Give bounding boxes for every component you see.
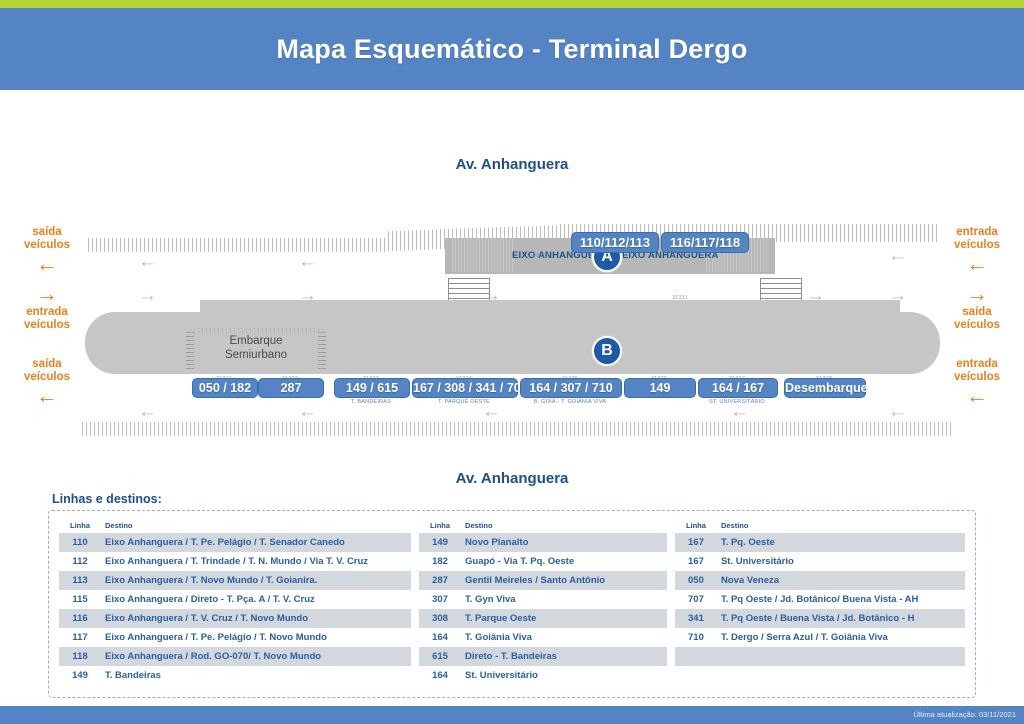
table-row[interactable]: 115Eixo Anhanguera / Direto - T. Pça. A … xyxy=(59,590,411,609)
flow-arrow-left-2: ← xyxy=(298,252,317,271)
platform-badge-6[interactable]: 164 / 167 xyxy=(698,378,778,398)
legend-header-row: Linha Destino xyxy=(419,519,667,533)
arrow-left-out-1-icon: ← xyxy=(4,252,90,276)
side-legend-right-entrada-1: entrada veículos ← xyxy=(934,226,1020,277)
line-number: 110 xyxy=(59,533,101,552)
platform-badge-3[interactable]: 167 / 308 / 341 / 707 xyxy=(412,378,518,398)
line-destination: T. Gyn Viva xyxy=(461,590,667,609)
table-row[interactable]: 117Eixo Anhanguera / T. Pe. Pelágio / T.… xyxy=(59,628,411,647)
line-destination: Novo Planalto xyxy=(461,533,667,552)
line-destination: Nova Veneza xyxy=(717,571,965,590)
line-number: 182 xyxy=(419,552,461,571)
arrow-right-in-2-icon: ← xyxy=(934,384,1020,408)
line-number: 118 xyxy=(59,647,101,666)
page-header: Mapa Esquemático - Terminal Dergo xyxy=(0,8,1024,90)
heading-av-anhanguera-top: Av. Anhanguera xyxy=(0,156,1024,173)
heading-av-anhanguera-bottom: Av. Anhanguera xyxy=(0,470,1024,487)
side-right-entrada-1-line1: entrada xyxy=(956,226,998,238)
side-legend-left-saida-1: saída veículos ← xyxy=(4,226,90,277)
line-destination: St. Universitário xyxy=(717,552,965,571)
line-number xyxy=(675,666,717,685)
line-number: 341 xyxy=(675,609,717,628)
page-title: Mapa Esquemático - Terminal Dergo xyxy=(276,34,747,65)
legend-column-3: Linha Destino 167T. Pq. Oeste 167St. Uni… xyxy=(675,519,965,689)
line-number: 167 xyxy=(675,552,717,571)
line-number: 112 xyxy=(59,552,101,571)
line-destination: Eixo Anhanguera / T. Novo Mundo / T. Goi… xyxy=(101,571,411,590)
arrow-right-out-1-icon: → xyxy=(934,282,1020,306)
legend-body-3: 167T. Pq. Oeste 167St. Universitário 050… xyxy=(675,533,965,685)
legend-column-2: Linha Destino 149Novo Planalto 182Guapó … xyxy=(419,519,667,689)
legend-col-destino: Destino xyxy=(461,519,667,533)
table-row[interactable]: 112Eixo Anhanguera / T. Trindade / T. N.… xyxy=(59,552,411,571)
table-row[interactable]: 116Eixo Anhanguera / T. V. Cruz / T. Nov… xyxy=(59,609,411,628)
line-destination: Gentil Meireles / Santo Antônio xyxy=(461,571,667,590)
legend-table-2: Linha Destino 149Novo Planalto 182Guapó … xyxy=(419,519,667,685)
side-left-entrada-1-line1: entrada xyxy=(26,306,68,318)
table-row xyxy=(675,666,965,685)
line-number xyxy=(675,647,717,666)
flow-arrow-left-5: ← xyxy=(888,246,907,265)
flow-arrow-lower-3: ← xyxy=(482,402,501,421)
line-number: 117 xyxy=(59,628,101,647)
table-row[interactable]: 149T. Bandeiras xyxy=(59,666,411,685)
line-destination: Eixo Anhanguera / T. Pe. Pelágio / T. Se… xyxy=(101,533,411,552)
embarque-line-2: Semiurbano xyxy=(186,348,326,362)
road-hatch-bottom xyxy=(82,422,954,436)
platform-badge-0[interactable]: 050 / 182 xyxy=(192,378,258,398)
flow-arrow-lower-5: ← xyxy=(888,402,907,421)
eixo-badge-top-1[interactable]: 110/112/113 xyxy=(571,232,659,253)
line-destination: T. Parque Oeste xyxy=(461,609,667,628)
legend-header-row: Linha Destino xyxy=(675,519,965,533)
line-number: 050 xyxy=(675,571,717,590)
side-right-entrada-1-line2: veículos xyxy=(954,239,1000,251)
line-destination: Eixo Anhanguera / T. V. Cruz / T. Novo M… xyxy=(101,609,411,628)
flow-arrow-right-1: → xyxy=(138,286,157,305)
platform-badge-1[interactable]: 287 xyxy=(258,378,324,398)
table-row[interactable]: 341T. Pq Oeste / Buena Vista / Jd. Botân… xyxy=(675,609,965,628)
line-number: 149 xyxy=(419,533,461,552)
line-number: 164 xyxy=(419,666,461,685)
line-destination: Direto - T. Bandeiras xyxy=(461,647,667,666)
line-destination: St. Universitário xyxy=(461,666,667,685)
station-marker-b[interactable]: B xyxy=(592,336,622,366)
flow-arrow-lower-1: ← xyxy=(138,402,157,421)
line-number: 164 xyxy=(419,628,461,647)
line-destination: T. Pq Oeste / Jd. Botânico/ Buena Vista … xyxy=(717,590,965,609)
flow-arrow-lower-4: ← xyxy=(730,402,749,421)
line-number: 116 xyxy=(59,609,101,628)
line-number: 167 xyxy=(675,533,717,552)
side-right-entrada-2-line1: entrada xyxy=(956,358,998,370)
line-number: 113 xyxy=(59,571,101,590)
island-hatch-left xyxy=(452,238,514,272)
side-legend-left-entrada-1: → entrada veículos xyxy=(4,282,90,333)
stop-code-31312: 31312 xyxy=(521,253,561,259)
line-number: 287 xyxy=(419,571,461,590)
table-row[interactable]: 710T. Dergo / Serra Azul / T. Goiânia Vi… xyxy=(675,628,965,647)
legend-col-linha: Linha xyxy=(419,519,461,533)
side-left-entrada-1-line2: veículos xyxy=(24,319,70,331)
table-row[interactable]: 113Eixo Anhanguera / T. Novo Mundo / T. … xyxy=(59,571,411,590)
line-destination: T. Goiânia Viva xyxy=(461,628,667,647)
legend-title: Linhas e destinos: xyxy=(52,492,162,506)
legend-body-1: 110Eixo Anhanguera / T. Pe. Pelágio / T.… xyxy=(59,533,411,685)
road-hatch-top-left xyxy=(88,238,388,252)
platform-badge-4[interactable]: 164 / 307 / 710 xyxy=(520,378,622,398)
table-row[interactable]: 182Guapó - Via T. Pq. Oeste xyxy=(419,552,667,571)
schematic-map: ← ← ← ← ← → → → → → EIXO ANHANGUERA EIXO… xyxy=(0,190,1024,455)
table-row[interactable]: 164T. Goiânia Viva xyxy=(419,628,667,647)
side-legend-left-saida-2: saída veículos ← xyxy=(4,358,90,409)
arrow-left-in-1-icon: → xyxy=(4,282,90,306)
page-footer: Última atualização: 03/11/2021 xyxy=(0,706,1024,724)
arrow-left-out-2-icon: ← xyxy=(4,384,90,408)
side-legend-right-entrada-2: entrada veículos ← xyxy=(934,358,1020,409)
legend-col-linha: Linha xyxy=(675,519,717,533)
side-right-saida-1-line1: saída xyxy=(962,306,991,318)
line-number: 115 xyxy=(59,590,101,609)
line-destination: Eixo Anhanguera / Rod. GO-070/ T. Novo M… xyxy=(101,647,411,666)
line-destination: Eixo Anhanguera / T. Trindade / T. N. Mu… xyxy=(101,552,411,571)
table-row[interactable]: 167T. Pq. Oeste xyxy=(675,533,965,552)
legend-col-destino: Destino xyxy=(101,519,411,533)
side-right-saida-1-line2: veículos xyxy=(954,319,1000,331)
arrow-right-in-1-icon: ← xyxy=(934,252,1020,276)
legend-header-row: Linha Destino xyxy=(59,519,411,533)
platform-badge-7[interactable]: Desembarque xyxy=(784,378,866,398)
line-destination: Eixo Anhanguera / Direto - T. Pça. A / T… xyxy=(101,590,411,609)
table-row[interactable]: 308T. Parque Oeste xyxy=(419,609,667,628)
line-number: 308 xyxy=(419,609,461,628)
eixo-badge-top-2[interactable]: 116/117/118 xyxy=(661,232,749,253)
line-destination xyxy=(717,666,965,685)
table-row[interactable]: 050Nova Veneza xyxy=(675,571,965,590)
table-row[interactable]: 149Novo Planalto xyxy=(419,533,667,552)
side-legend-right-saida-1: → saída veículos xyxy=(934,282,1020,333)
line-destination: T. Pq. Oeste xyxy=(717,533,965,552)
legend-table-3: Linha Destino 167T. Pq. Oeste 167St. Uni… xyxy=(675,519,965,685)
side-left-saida-1-line1: saída xyxy=(32,226,61,238)
legend-column-1: Linha Destino 110Eixo Anhanguera / T. Pe… xyxy=(59,519,411,689)
line-destination: Eixo Anhanguera / T. Pe. Pelágio / T. No… xyxy=(101,628,411,647)
line-number: 707 xyxy=(675,590,717,609)
table-row[interactable]: 118Eixo Anhanguera / Rod. GO-070/ T. Nov… xyxy=(59,647,411,666)
line-destination xyxy=(717,647,965,666)
last-update-text: Última atualização: 03/11/2021 xyxy=(914,710,1016,719)
platform-badge-5[interactable]: 149 xyxy=(624,378,696,398)
table-row[interactable]: 167St. Universitário xyxy=(675,552,965,571)
legend-col-linha: Linha xyxy=(59,519,101,533)
flow-arrow-lower-2: ← xyxy=(298,402,317,421)
line-destination: Guapó - Via T. Pq. Oeste xyxy=(461,552,667,571)
line-destination: T. Dergo / Serra Azul / T. Goiânia Viva xyxy=(717,628,965,647)
top-green-bar xyxy=(0,0,1024,8)
line-destination: T. Pq Oeste / Buena Vista / Jd. Botânico… xyxy=(717,609,965,628)
legend-body-2: 149Novo Planalto 182Guapó - Via T. Pq. O… xyxy=(419,533,667,685)
side-left-saida-2-line2: veículos xyxy=(24,371,70,383)
table-row[interactable]: 110Eixo Anhanguera / T. Pe. Pelágio / T.… xyxy=(59,533,411,552)
embarque-line-1: Embarque xyxy=(186,334,326,348)
legend-panel: Linha Destino 110Eixo Anhanguera / T. Pe… xyxy=(48,510,976,698)
table-row[interactable]: 707T. Pq Oeste / Jd. Botânico/ Buena Vis… xyxy=(675,590,965,609)
platform-caption-4: B. GOIÁ - T. GOIÂNIA VIVA xyxy=(520,399,620,405)
side-left-saida-2-line1: saída xyxy=(32,358,61,370)
legend-col-destino: Destino xyxy=(717,519,965,533)
line-number: 710 xyxy=(675,628,717,647)
line-number: 307 xyxy=(419,590,461,609)
table-row xyxy=(675,647,965,666)
table-row[interactable]: 164St. Universitário xyxy=(419,666,667,685)
line-number: 149 xyxy=(59,666,101,685)
flow-arrow-left-1: ← xyxy=(138,252,157,271)
line-destination: T. Bandeiras xyxy=(101,666,411,685)
platform-badge-2[interactable]: 149 / 615 xyxy=(334,378,410,398)
table-row[interactable]: 615Direto - T. Bandeiras xyxy=(419,647,667,666)
side-right-entrada-2-line2: veículos xyxy=(954,371,1000,383)
line-number: 615 xyxy=(419,647,461,666)
table-row[interactable]: 307T. Gyn Viva xyxy=(419,590,667,609)
table-row[interactable]: 287Gentil Meireles / Santo Antônio xyxy=(419,571,667,590)
platform-caption-2: T. BANDEIRAS xyxy=(334,399,408,405)
side-left-saida-1-line2: veículos xyxy=(24,239,70,251)
embarque-semiurbano-label: Embarque Semiurbano xyxy=(186,330,326,368)
legend-table-1: Linha Destino 110Eixo Anhanguera / T. Pe… xyxy=(59,519,411,685)
